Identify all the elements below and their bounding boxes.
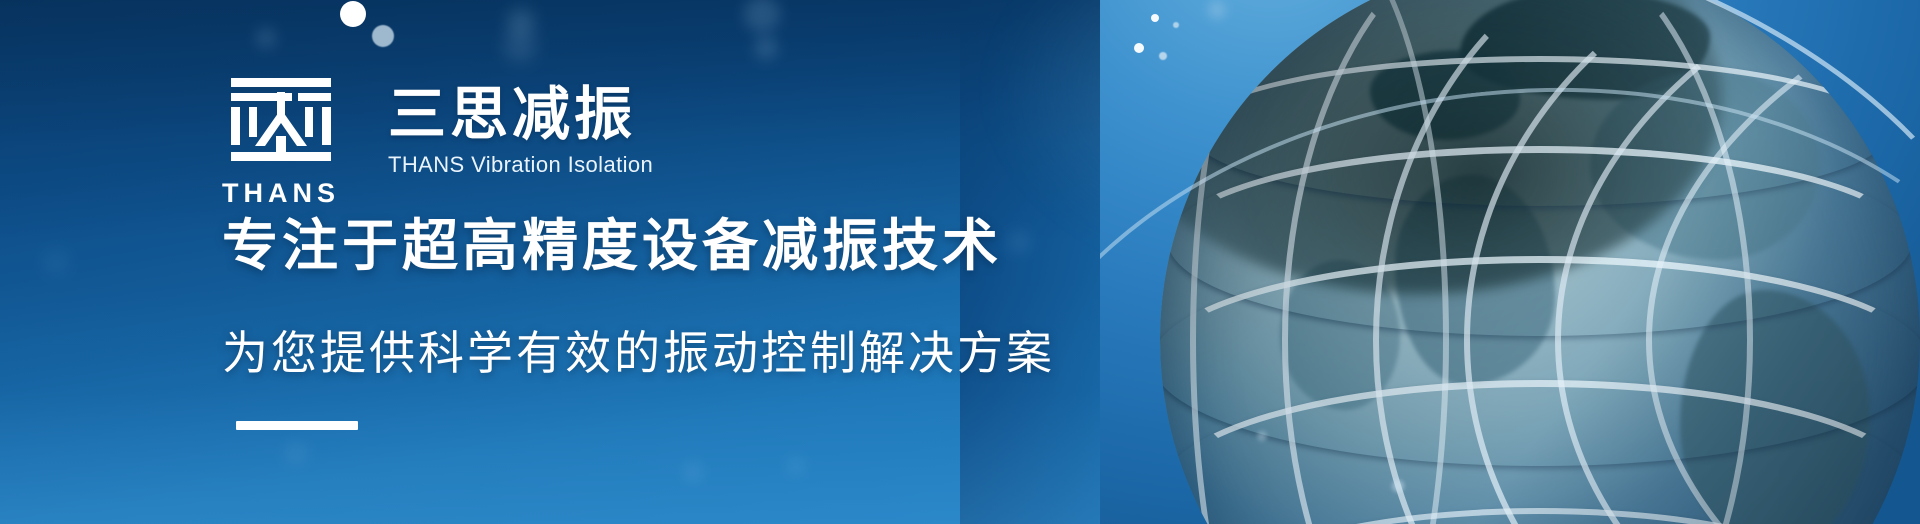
hero-banner: THANS 三思减振 THANS Vibration Isolation 专注于…: [0, 0, 1920, 524]
thans-emblem-icon: [231, 78, 331, 170]
brand-name-en: THANS Vibration Isolation: [388, 154, 653, 176]
brand-name-cn: 三思减振: [388, 84, 653, 145]
headline: 专注于超高精度设备减振技术: [222, 213, 1002, 279]
subheadline: 为您提供科学有效的振动控制解决方案: [222, 326, 1055, 380]
banner-content: THANS 三思减振 THANS Vibration Isolation 专注于…: [0, 0, 1920, 524]
logo-lockup[interactable]: THANS 三思减振 THANS Vibration Isolation: [222, 78, 653, 207]
thans-wordmark: THANS: [222, 180, 340, 207]
headline-underline: [236, 421, 358, 430]
logo-mark-block[interactable]: THANS: [222, 78, 340, 207]
brand-block: 三思减振 THANS Vibration Isolation: [388, 78, 653, 176]
